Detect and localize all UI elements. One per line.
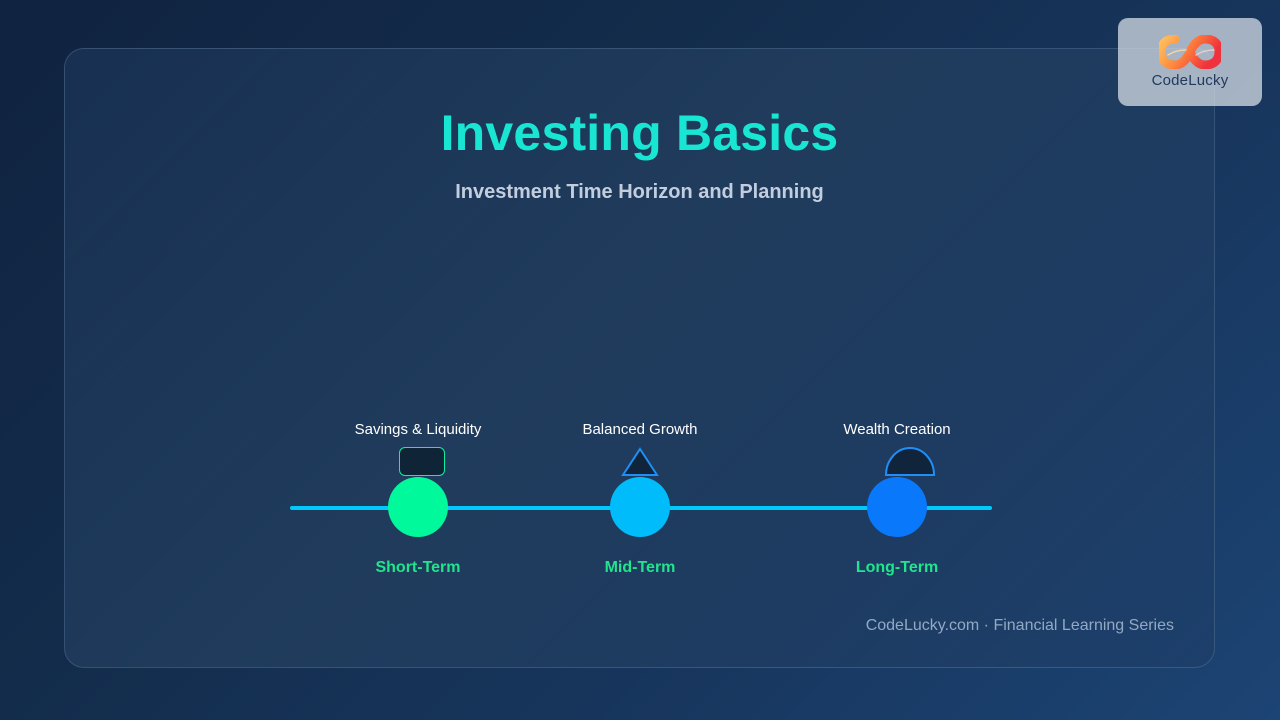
footer-caption: CodeLucky.com · Financial Learning Serie… bbox=[866, 617, 1174, 635]
brand-name: CodeLucky bbox=[1152, 72, 1229, 89]
node-bottom-label: Mid-Term bbox=[525, 559, 755, 577]
node-bottom-label: Short-Term bbox=[303, 559, 533, 577]
timeline-node-mid-term[interactable]: Balanced Growth Mid-Term bbox=[525, 409, 755, 589]
timeline-node-long-term[interactable]: Wealth Creation Long-Term bbox=[782, 409, 1012, 589]
page-title: Investing Basics bbox=[65, 104, 1214, 162]
node-circle bbox=[610, 477, 670, 537]
node-circle bbox=[867, 477, 927, 537]
wallet-icon bbox=[399, 447, 445, 476]
timeline-node-short-term[interactable]: Savings & Liquidity Short-Term bbox=[303, 409, 533, 589]
node-circle bbox=[388, 477, 448, 537]
node-bottom-label: Long-Term bbox=[782, 559, 1012, 577]
node-top-label: Wealth Creation bbox=[782, 421, 1012, 438]
brand-logo-panel[interactable]: CodeLucky bbox=[1118, 18, 1262, 106]
content-card: Investing Basics Investment Time Horizon… bbox=[64, 48, 1215, 668]
page-subtitle: Investment Time Horizon and Planning bbox=[65, 181, 1214, 204]
triangle-icon bbox=[621, 447, 659, 477]
slide-canvas: Investing Basics Investment Time Horizon… bbox=[0, 0, 1280, 720]
node-top-label: Balanced Growth bbox=[525, 421, 755, 438]
dome-icon bbox=[884, 445, 936, 477]
node-top-label: Savings & Liquidity bbox=[303, 421, 533, 438]
infinity-leaf-icon bbox=[1159, 35, 1221, 69]
